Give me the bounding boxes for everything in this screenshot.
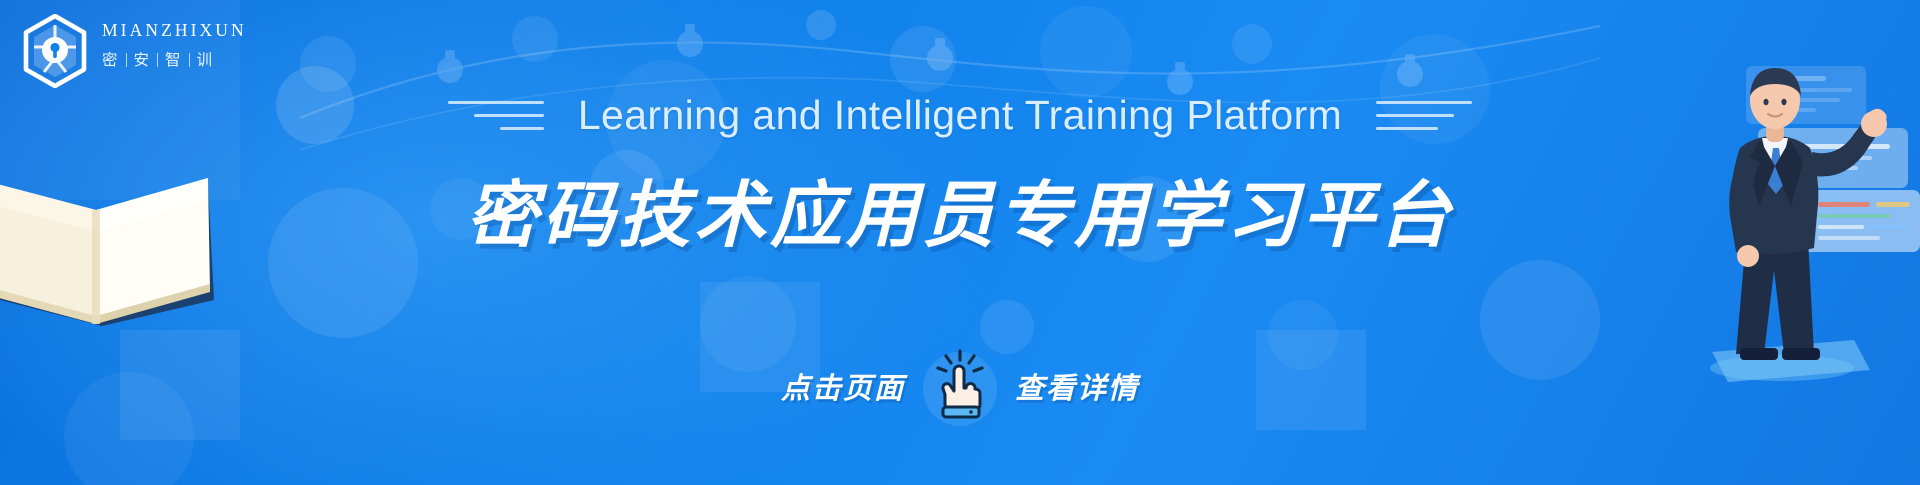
cta-label-right: 查看详情 [1015, 374, 1139, 403]
promo-banner[interactable]: MIANZHIXUN 密 安 智 训 Learning and Intellig… [0, 0, 1920, 485]
cta-row[interactable]: 点击页面 查看详情 [0, 355, 1920, 421]
bg-blob [806, 10, 836, 40]
divider [126, 53, 127, 67]
decorative-line [1376, 127, 1438, 130]
divider [157, 53, 158, 67]
brand-cn-char-3: 智 [165, 53, 182, 69]
bg-blob [980, 300, 1034, 354]
bg-blob [1232, 24, 1272, 64]
decorative-line [1376, 114, 1454, 117]
brand-cn-char-1: 密 [102, 53, 119, 69]
businessman-presenting-illustration [1674, 52, 1898, 382]
decorative-line [448, 101, 544, 104]
brand-wordmark: MIANZHIXUN 密 安 智 训 [102, 22, 254, 68]
open-book-illustration [0, 140, 218, 330]
decorative-lines-left [448, 101, 544, 130]
brand-cn-char-4: 训 [197, 53, 214, 69]
cursor-icon-wrapper [931, 353, 989, 423]
headline-english: Learning and Intelligent Training Platfo… [578, 95, 1342, 136]
decorative-lines-right [1376, 101, 1472, 130]
decorative-line [1376, 101, 1472, 104]
decorative-line [474, 114, 544, 117]
divider [189, 53, 190, 67]
brand-logo[interactable]: MIANZHIXUN 密 安 智 训 [22, 14, 252, 92]
headline-chinese: 密码技术应用员专用学习平台 [0, 170, 1920, 260]
brand-name-cn: 密 安 智 训 [102, 53, 254, 69]
hexagon-shield-lock-icon [22, 14, 88, 88]
brand-cn-char-2: 安 [134, 53, 151, 69]
english-headline-row: Learning and Intelligent Training Platfo… [0, 82, 1920, 148]
cta-label-left: 点击页面 [781, 374, 905, 403]
click-hand-cursor-icon [931, 349, 989, 419]
bg-blob [512, 16, 558, 62]
brand-name-en: MIANZHIXUN [102, 22, 254, 40]
decorative-line [500, 127, 544, 130]
